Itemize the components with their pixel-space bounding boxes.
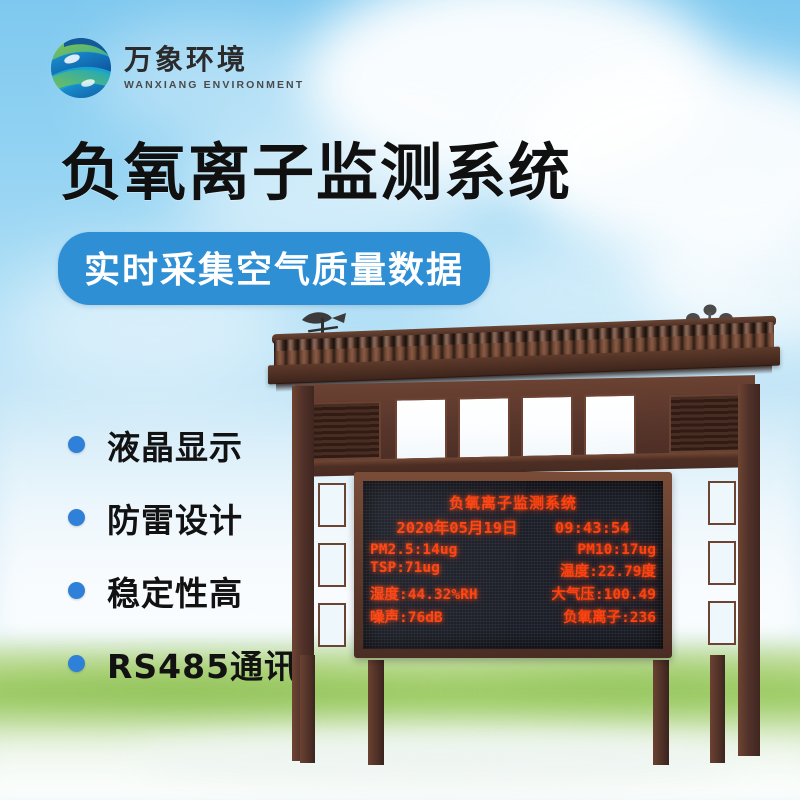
- led-datetime: 2020年05月19日 09:43:54: [363, 516, 663, 538]
- bullet-dot-icon: [68, 509, 85, 526]
- feature-label: 液晶显示: [107, 421, 243, 469]
- led-reading-temperature: 温度:22.79度: [560, 560, 656, 581]
- led-date: 2020年05月19日: [396, 519, 517, 537]
- led-reading-tsp: TSP:71ug: [370, 560, 440, 581]
- frame-post-right: [738, 384, 760, 756]
- bullet-dot-icon: [68, 655, 85, 672]
- led-reading-negative-ions: 负氧离子:236: [563, 606, 656, 627]
- led-reading-noise: 噪声:76dB: [370, 606, 443, 627]
- led-readings: PM2.5:14ug PM10:17ug TSP:71ug 温度:22.79度 …: [363, 542, 663, 627]
- louver-vent-left: [309, 401, 381, 461]
- led-reading-humidity: 湿度:44.32%RH: [370, 583, 478, 604]
- side-window-pane: [318, 543, 346, 587]
- list-item: 液晶显示: [68, 408, 298, 481]
- side-window-pane: [318, 483, 346, 527]
- support-leg-inner-left: [368, 660, 384, 765]
- led-reading-row: 湿度:44.32%RH 大气压:100.49: [370, 583, 656, 604]
- led-reading-row: 噪声:76dB 负氧离子:236: [370, 606, 656, 627]
- side-window-pane: [708, 601, 736, 645]
- brand-logo: 万象环境 WANXIANG ENVIRONMENT: [48, 33, 304, 103]
- subtitle-badge: 实时采集空气质量数据: [58, 232, 490, 305]
- list-item: RS485通讯: [68, 627, 298, 700]
- poster-canvas: 万象环境 WANXIANG ENVIRONMENT 负氧离子监测系统 实时采集空…: [0, 0, 800, 800]
- led-display-screen[interactable]: 负氧离子监测系统 2020年05月19日 09:43:54 PM2.5:14ug…: [363, 481, 663, 649]
- page-title: 负氧离子监测系统: [60, 140, 572, 205]
- list-item: 稳定性高: [68, 554, 298, 627]
- louver-vent-right: [669, 393, 741, 453]
- side-window-pane: [708, 541, 736, 585]
- brand-name-en: WANXIANG ENVIRONMENT: [124, 79, 304, 91]
- feature-list: 液晶显示 防雷设计 稳定性高 RS485通讯: [68, 408, 298, 700]
- led-reading-pm25: PM2.5:14ug: [370, 542, 457, 558]
- window-pane: [458, 396, 510, 459]
- support-leg-left: [300, 655, 315, 763]
- feature-label: 稳定性高: [107, 567, 243, 615]
- monitoring-station: 负氧离子监测系统 2020年05月19日 09:43:54 PM2.5:14ug…: [268, 300, 788, 765]
- bullet-dot-icon: [68, 436, 85, 453]
- led-title: 负氧离子监测系统: [363, 492, 663, 513]
- feature-label: 防雷设计: [107, 494, 243, 542]
- led-reading-row: TSP:71ug 温度:22.79度: [370, 560, 656, 581]
- led-reading-pm10: PM10:17ug: [577, 542, 656, 558]
- bullet-dot-icon: [68, 582, 85, 599]
- window-pane: [521, 395, 573, 458]
- led-time: 09:43:54: [555, 519, 630, 537]
- globe-swirl-icon: [48, 33, 114, 103]
- window-pane: [584, 394, 636, 457]
- brand-name-cn: 万象环境: [124, 46, 304, 74]
- side-window-pane: [708, 481, 736, 525]
- led-reading-pressure: 大气压:100.49: [551, 583, 656, 604]
- upper-frame-band: [295, 375, 755, 477]
- side-window-pane: [318, 603, 346, 647]
- support-leg-right: [710, 655, 725, 763]
- support-leg-inner-right: [653, 660, 669, 765]
- window-pane: [395, 398, 447, 461]
- led-reading-row: PM2.5:14ug PM10:17ug: [370, 542, 656, 558]
- list-item: 防雷设计: [68, 481, 298, 554]
